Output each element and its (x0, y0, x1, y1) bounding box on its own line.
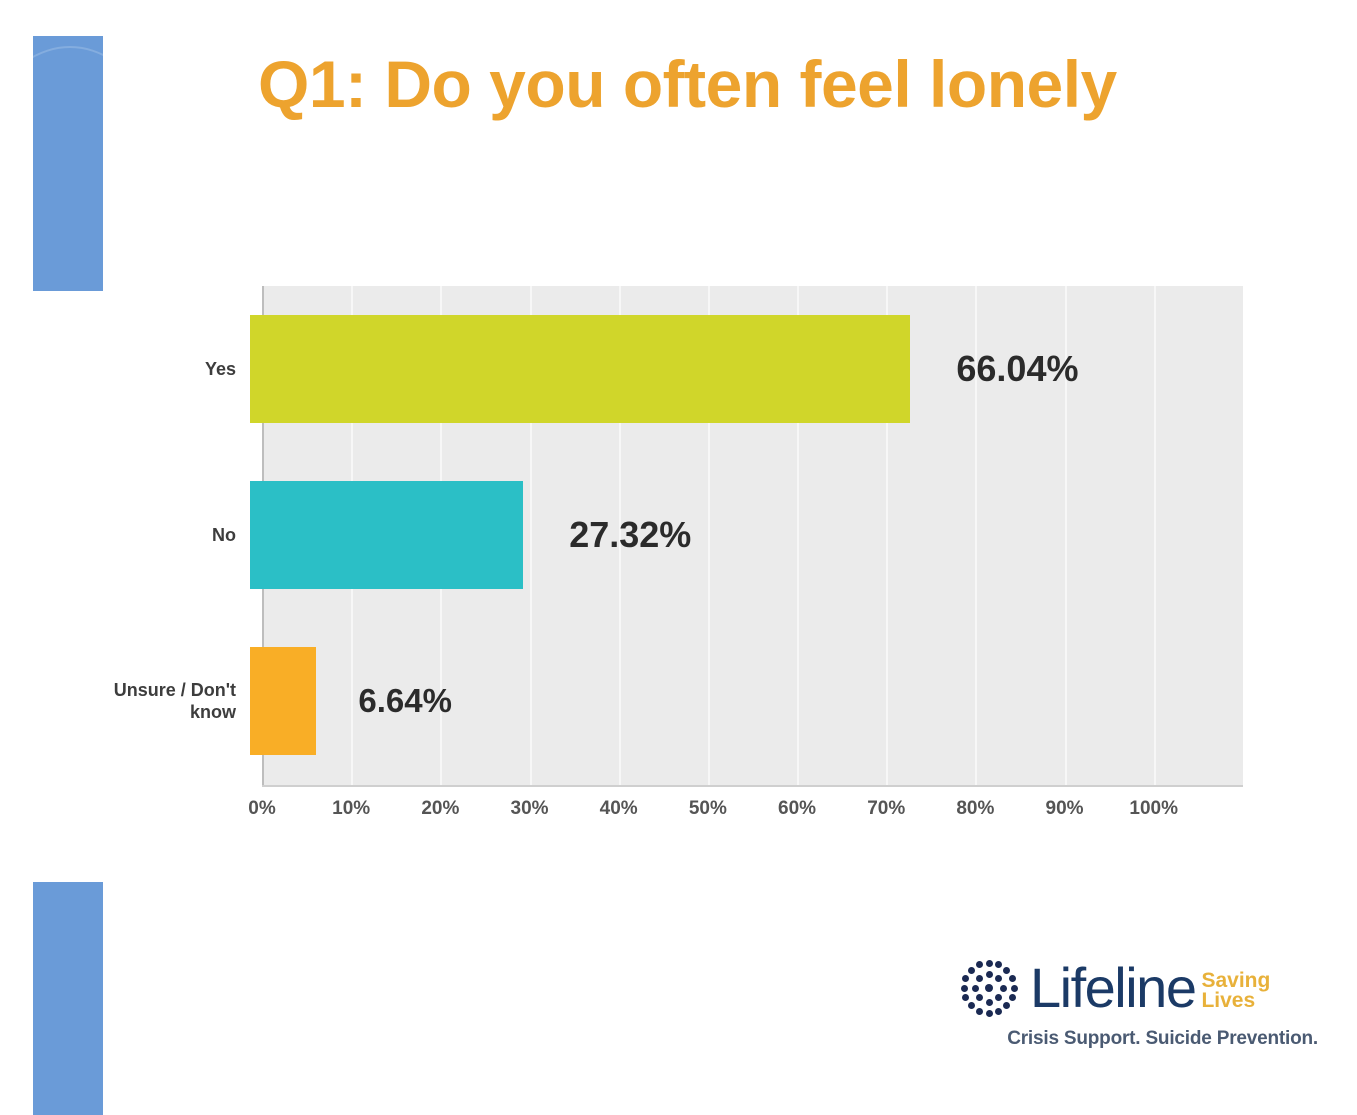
bar-unsure (250, 647, 316, 755)
category-label-yes: Yes (70, 358, 250, 381)
category-label-no: No (70, 524, 250, 547)
value-label-no: 27.32% (569, 514, 691, 556)
bar-row-unsure: Unsure / Don't know 6.64% (70, 618, 1250, 784)
logo-lockup: Lifeline Saving Lives (958, 952, 1318, 1024)
decorative-accent-bar-top (33, 36, 103, 291)
x-tick-50: 50% (689, 798, 727, 820)
decorative-accent-bar-bottom (33, 882, 103, 1115)
lifeline-logo: Lifeline Saving Lives Crisis Support. Su… (958, 952, 1318, 1062)
logo-strapline: Saving Lives (1201, 965, 1270, 1011)
x-tick-100: 100% (1129, 798, 1178, 820)
bar-track: 6.64% (250, 618, 1250, 784)
bar-row-yes: Yes 66.04% (70, 286, 1250, 452)
x-tick-90: 90% (1046, 798, 1084, 820)
value-label-unsure: 6.64% (358, 682, 452, 720)
bar-chart: Yes 66.04% No 27.32% Unsure / Don't know… (70, 286, 1250, 836)
x-tick-10: 10% (332, 798, 370, 820)
x-tick-70: 70% (867, 798, 905, 820)
bar-row-no: No 27.32% (70, 452, 1250, 618)
logo-strapline-line2: Lives (1201, 991, 1270, 1011)
value-label-yes: 66.04% (956, 348, 1078, 390)
x-tick-40: 40% (600, 798, 638, 820)
x-tick-80: 80% (956, 798, 994, 820)
accent-swoosh-arc (33, 882, 103, 1115)
bar-yes (250, 315, 910, 423)
bar-track: 66.04% (250, 286, 1250, 452)
x-tick-20: 20% (421, 798, 459, 820)
accent-swoosh-arc (33, 46, 103, 291)
x-tick-0: 0% (248, 798, 275, 820)
lifeline-circle-icon (958, 957, 1020, 1019)
bar-no (250, 481, 523, 589)
x-axis-tick-labels: 0% 10% 20% 30% 40% 50% 60% 70% 80% 90% 1… (262, 798, 1243, 828)
x-tick-60: 60% (778, 798, 816, 820)
logo-wordmark: Lifeline (1030, 961, 1195, 1014)
bar-track: 27.32% (250, 452, 1250, 618)
category-label-unsure: Unsure / Don't know (70, 679, 250, 724)
x-axis-line (262, 785, 1243, 787)
logo-tagline: Crisis Support. Suicide Prevention. (958, 1028, 1318, 1050)
bar-rows: Yes 66.04% No 27.32% Unsure / Don't know… (70, 286, 1250, 785)
x-tick-30: 30% (511, 798, 549, 820)
logo-strapline-line1: Saving (1201, 971, 1270, 991)
page-title: Q1: Do you often feel lonely (258, 48, 1117, 121)
